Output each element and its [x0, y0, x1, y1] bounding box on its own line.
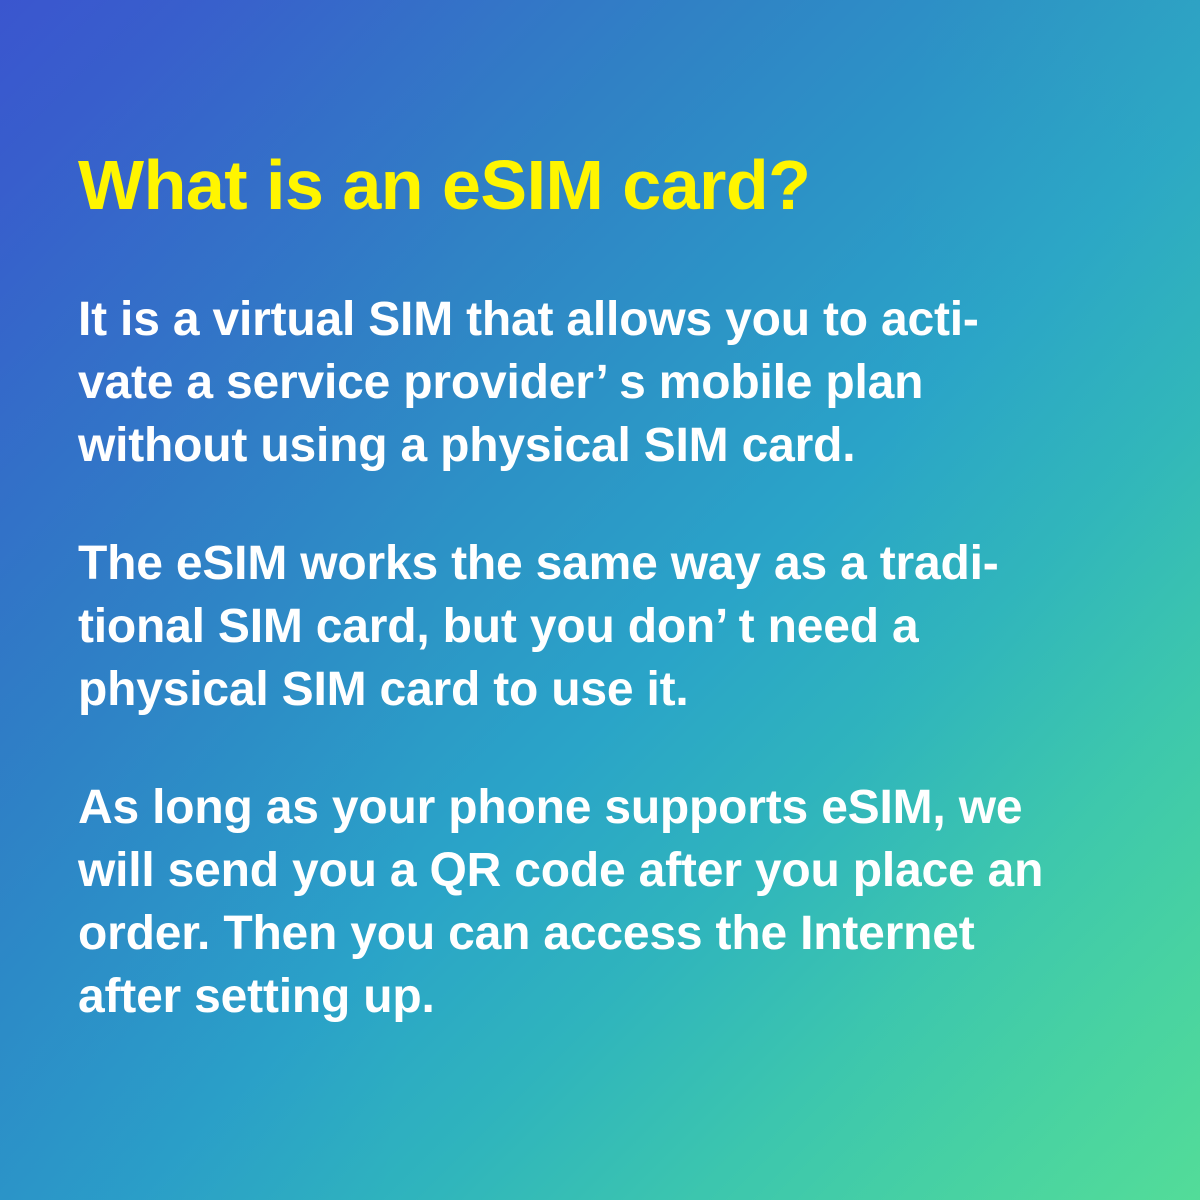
- paragraph-what-is-esim: It is a virtual SIM that allows you to a…: [78, 288, 1088, 477]
- paragraph-qr-code-delivery: As long as your phone supports eSIM, we …: [78, 776, 1088, 1028]
- text-line: tional SIM card, but you don’ t need a: [78, 595, 1088, 658]
- text-line: The eSIM works the same way as a tradi-: [78, 532, 1088, 595]
- page-title: What is an eSIM card?: [78, 150, 810, 220]
- body-text-block: It is a virtual SIM that allows you to a…: [78, 288, 1088, 1028]
- text-line: As long as your phone supports eSIM, we: [78, 776, 1088, 839]
- text-line: order. Then you can access the Internet: [78, 902, 1088, 965]
- text-line: will send you a QR code after you place …: [78, 839, 1088, 902]
- paragraph-how-esim-works: The eSIM works the same way as a tradi- …: [78, 532, 1088, 721]
- text-line: It is a virtual SIM that allows you to a…: [78, 288, 1088, 351]
- esim-info-poster: What is an eSIM card? It is a virtual SI…: [0, 0, 1200, 1200]
- text-line: after setting up.: [78, 965, 1088, 1028]
- text-line: without using a physical SIM card.: [78, 414, 1088, 477]
- text-line: vate a service provider’ s mobile plan: [78, 351, 1088, 414]
- text-line: physical SIM card to use it.: [78, 658, 1088, 721]
